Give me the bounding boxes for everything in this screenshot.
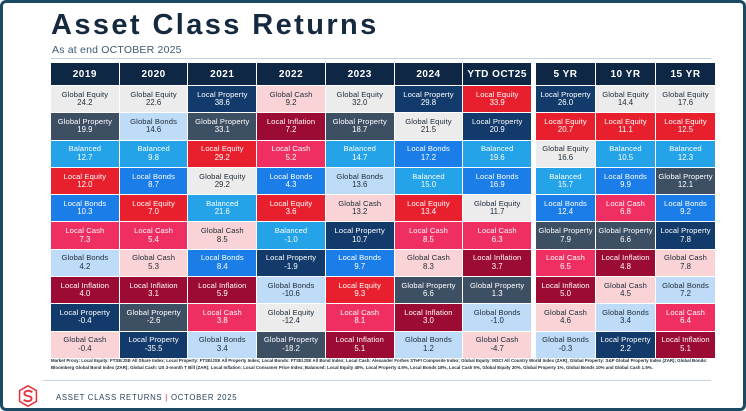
returns-cell: Local Inflation5.0: [536, 277, 595, 303]
asset-class-value: 4.0: [79, 290, 90, 299]
asset-class-value: -0.4: [78, 345, 91, 354]
annualised-panel: 5 YRLocal Property26.0Local Equity20.7Gl…: [536, 63, 715, 358]
returns-cell: Local Property20.9: [463, 113, 531, 139]
asset-class-value: 6.4: [680, 317, 691, 326]
asset-class-value: 15.7: [558, 181, 573, 190]
asset-class-value: -2.6: [147, 317, 160, 326]
asset-class-value: 24.2: [77, 99, 92, 108]
asset-class-value: 3.1: [148, 290, 159, 299]
returns-cell: Global Property6.6: [395, 277, 463, 303]
returns-cell: Balanced15.7: [536, 168, 595, 194]
returns-cell: Global Cash-4.7: [463, 332, 531, 358]
returns-cell: Global Bonds3.4: [596, 304, 655, 330]
asset-class-value: 16.6: [558, 154, 573, 163]
returns-cell: Local Cash3.8: [188, 304, 256, 330]
asset-class-value: 5.4: [148, 236, 159, 245]
asset-class-value: 5.0: [560, 290, 571, 299]
returns-cell: Balanced12.3: [656, 141, 715, 167]
returns-cell: Global Equity22.6: [120, 86, 188, 112]
returns-cell: Local Cash6.4: [656, 304, 715, 330]
asset-class-value: 29.2: [215, 181, 230, 190]
asset-class-value: 6.8: [620, 208, 631, 217]
asset-class-value: 1.2: [423, 345, 434, 354]
asset-class-value: 12.3: [678, 154, 693, 163]
column-header: 10 YR: [596, 63, 655, 85]
returns-cell: Local Equity12.0: [51, 168, 119, 194]
returns-cell: Global Equity17.6: [656, 86, 715, 112]
returns-cell: Global Cash5.3: [120, 250, 188, 276]
returns-column: YTD OCT25Local Equity33.9Local Property2…: [463, 63, 531, 358]
asset-class-value: 6.6: [423, 290, 434, 299]
asset-class-value: 38.6: [215, 99, 230, 108]
returns-cell: Global Bonds1.2: [395, 332, 463, 358]
returns-cell: Local Equity12.5: [656, 113, 715, 139]
returns-cell: Local Property29.8: [395, 86, 463, 112]
returns-cell: Global Property33.1: [188, 113, 256, 139]
returns-cell: Local Bonds17.2: [395, 141, 463, 167]
returns-cell: Local Inflation5.1: [326, 332, 394, 358]
returns-cell: Local Cash5.4: [120, 222, 188, 248]
column-header: YTD OCT25: [463, 63, 531, 85]
returns-cell: Local Inflation5.1: [656, 332, 715, 358]
asset-class-value: 8.5: [423, 236, 434, 245]
asset-class-value: 26.0: [558, 99, 573, 108]
returns-cell: Local Bonds8.7: [120, 168, 188, 194]
asset-class-value: 33.1: [215, 126, 230, 135]
returns-column: 2023Global Equity32.0Global Property18.7…: [326, 63, 394, 358]
asset-class-value: 8.7: [148, 181, 159, 190]
returns-cell: Global Equity14.4: [596, 86, 655, 112]
returns-cell: Global Bonds-1.0: [463, 304, 531, 330]
asset-class-value: 4.5: [620, 290, 631, 299]
returns-cell: Local Bonds16.9: [463, 168, 531, 194]
column-header: 2021: [188, 63, 256, 85]
column-header: 2019: [51, 63, 119, 85]
returns-cell: Local Cash5.2: [257, 141, 325, 167]
returns-cell: Local Property-35.5: [120, 332, 188, 358]
returns-cell: Global Bonds7.2: [656, 277, 715, 303]
returns-cell: Global Equity29.2: [188, 168, 256, 194]
asset-class-value: 4.6: [560, 317, 571, 326]
returns-table: 2019Global Equity24.2Global Property19.9…: [51, 63, 715, 358]
asset-class-value: 15.0: [421, 181, 436, 190]
returns-cell: Local Cash6.3: [463, 222, 531, 248]
returns-cell: Local Property10.7: [326, 222, 394, 248]
returns-cell: Local Bonds9.7: [326, 250, 394, 276]
asset-class-value: 5.1: [680, 345, 691, 354]
asset-class-value: -4.7: [490, 345, 503, 354]
footer-divider: [43, 380, 711, 381]
returns-cell: Global Property12.1: [656, 168, 715, 194]
asset-class-value: 2.2: [620, 345, 631, 354]
asset-class-value: 21.5: [421, 126, 436, 135]
asset-class-value: 8.1: [354, 317, 365, 326]
returns-cell: Global Bonds4.2: [51, 250, 119, 276]
returns-cell: Local Bonds4.3: [257, 168, 325, 194]
returns-cell: Global Cash-0.4: [51, 332, 119, 358]
returns-cell: Balanced10.5: [596, 141, 655, 167]
returns-cell: Global Property-18.2: [257, 332, 325, 358]
returns-cell: Global Property-2.6: [120, 304, 188, 330]
asset-class-value: 29.2: [215, 154, 230, 163]
returns-cell: Global Equity11.7: [463, 195, 531, 221]
asset-class-value: 5.9: [217, 290, 228, 299]
returns-cell: Local Cash6.8: [596, 195, 655, 221]
asset-class-value: 32.0: [352, 99, 367, 108]
returns-cell: Global Equity16.6: [536, 141, 595, 167]
asset-class-value: 8.4: [217, 263, 228, 272]
returns-cell: Local Inflation4.0: [51, 277, 119, 303]
column-header: 5 YR: [536, 63, 595, 85]
returns-cell: Global Property6.6: [596, 222, 655, 248]
returns-cell: Local Equity3.6: [257, 195, 325, 221]
asset-class-value: 14.6: [146, 126, 161, 135]
asset-class-value: 3.6: [286, 208, 297, 217]
asset-class-value: 12.7: [77, 154, 92, 163]
returns-cell: Global Equity24.2: [51, 86, 119, 112]
returns-cell: Global Equity32.0: [326, 86, 394, 112]
returns-column: 10 YRGlobal Equity14.4Local Equity11.1Ba…: [596, 63, 655, 358]
asset-class-value: 9.7: [354, 263, 365, 272]
returns-cell: Global Cash8.5: [188, 222, 256, 248]
footnote-line-1: Market Proxy: Local Equity: FTSE/JSE All…: [51, 358, 661, 363]
asset-class-value: 12.0: [77, 181, 92, 190]
returns-column: 2021Local Property38.6Global Property33.…: [188, 63, 256, 358]
returns-column: 5 YRLocal Property26.0Local Equity20.7Gl…: [536, 63, 595, 358]
brand-logo-icon: [15, 384, 41, 408]
asset-class-value: 22.6: [146, 99, 161, 108]
returns-cell: Local Equity13.4: [395, 195, 463, 221]
column-header: 2023: [326, 63, 394, 85]
returns-cell: Local Bonds12.4: [536, 195, 595, 221]
returns-cell: Global Bonds-0.3: [536, 332, 595, 358]
asset-class-value: 17.2: [421, 154, 436, 163]
asset-class-value: -10.6: [282, 290, 300, 299]
returns-cell: Local Inflation7.2: [257, 113, 325, 139]
returns-cell: Global Cash7.8: [656, 250, 715, 276]
asset-class-value: -35.5: [145, 345, 163, 354]
asset-class-value: 20.7: [558, 126, 573, 135]
asset-class-value: 13.2: [352, 208, 367, 217]
asset-class-value: -18.2: [282, 345, 300, 354]
asset-class-value: 7.8: [680, 263, 691, 272]
asset-class-value: 5.1: [354, 345, 365, 354]
asset-class-value: 4.3: [286, 181, 297, 190]
footer-bar-period: OCTOBER 2025: [171, 393, 237, 402]
returns-cell: Local Cash8.5: [395, 222, 463, 248]
asset-class-value: 12.1: [678, 181, 693, 190]
asset-class-value: 17.6: [678, 99, 693, 108]
asset-class-value: 11.1: [618, 126, 633, 135]
asset-class-value: 8.5: [217, 236, 228, 245]
asset-class-value: 9.9: [620, 181, 631, 190]
returns-cell: Local Equity33.9: [463, 86, 531, 112]
asset-class-returns-page: Asset Class Returns As at end OCTOBER 20…: [0, 0, 746, 411]
returns-cell: Global Property1.3: [463, 277, 531, 303]
returns-cell: Balanced12.7: [51, 141, 119, 167]
returns-cell: Local Property2.2: [596, 332, 655, 358]
asset-class-value: 10.5: [618, 154, 633, 163]
returns-cell: Local Property-0.4: [51, 304, 119, 330]
returns-cell: Balanced-1.0: [257, 222, 325, 248]
header-divider: [51, 58, 711, 59]
asset-class-value: 3.8: [217, 317, 228, 326]
footer-bar-separator: |: [165, 393, 168, 402]
asset-class-value: -0.4: [78, 317, 91, 326]
asset-class-value: 14.7: [352, 154, 367, 163]
asset-class-value: 12.4: [558, 208, 573, 217]
returns-cell: Global Cash4.6: [536, 304, 595, 330]
returns-cell: Local Bonds9.2: [656, 195, 715, 221]
returns-cell: Local Equity9.3: [326, 277, 394, 303]
asset-class-value: 4.8: [620, 263, 631, 272]
page-title: Asset Class Returns: [51, 9, 379, 42]
asset-class-value: 1.3: [492, 290, 503, 299]
asset-class-value: 18.7: [352, 126, 367, 135]
returns-cell: Global Bonds-10.6: [257, 277, 325, 303]
asset-class-value: 9.2: [286, 99, 297, 108]
returns-cell: Local Inflation4.8: [596, 250, 655, 276]
asset-class-value: 3.4: [217, 345, 228, 354]
returns-cell: Balanced21.6: [188, 195, 256, 221]
asset-class-value: 29.8: [421, 99, 436, 108]
returns-cell: Local Property26.0: [536, 86, 595, 112]
asset-class-value: 7.2: [680, 290, 691, 299]
returns-cell: Global Cash9.2: [257, 86, 325, 112]
asset-class-value: 3.4: [620, 317, 631, 326]
asset-class-value: 4.2: [79, 263, 90, 272]
returns-cell: Local Cash7.3: [51, 222, 119, 248]
calendar-year-panel: 2019Global Equity24.2Global Property19.9…: [51, 63, 531, 358]
returns-cell: Local Property-1.9: [257, 250, 325, 276]
column-header: 15 YR: [656, 63, 715, 85]
returns-cell: Local Bonds8.4: [188, 250, 256, 276]
returns-cell: Local Property38.6: [188, 86, 256, 112]
market-proxy-footnote: Market Proxy: Local Equity: FTSE/JSE All…: [51, 357, 713, 372]
asset-class-value: 7.8: [680, 236, 691, 245]
returns-cell: Local Equity11.1: [596, 113, 655, 139]
asset-class-value: 10.3: [77, 208, 92, 217]
returns-cell: Local Bonds9.9: [596, 168, 655, 194]
asset-class-value: -1.9: [284, 263, 297, 272]
footnote-line-3: Cash 1.5%.: [630, 365, 653, 370]
returns-cell: Local Inflation5.9: [188, 277, 256, 303]
returns-cell: Local Inflation3.0: [395, 304, 463, 330]
returns-cell: Global Bonds3.4: [188, 332, 256, 358]
returns-cell: Balanced19.6: [463, 141, 531, 167]
returns-cell: Local Bonds10.3: [51, 195, 119, 221]
asset-class-value: 13.6: [352, 181, 367, 190]
asset-class-value: 33.9: [490, 99, 505, 108]
asset-class-value: -1.0: [490, 317, 503, 326]
returns-cell: Global Property7.9: [536, 222, 595, 248]
asset-class-value: -1.0: [284, 236, 297, 245]
returns-cell: Balanced15.0: [395, 168, 463, 194]
asset-class-value: 6.3: [492, 236, 503, 245]
returns-cell: Global Cash8.3: [395, 250, 463, 276]
asset-class-value: 7.3: [79, 236, 90, 245]
asset-class-value: 5.2: [286, 154, 297, 163]
asset-class-value: 21.6: [215, 208, 230, 217]
asset-class-value: 14.4: [618, 99, 633, 108]
asset-class-value: 9.8: [148, 154, 159, 163]
asset-class-value: 16.9: [490, 181, 505, 190]
asset-class-value: -0.3: [559, 345, 572, 354]
returns-cell: Local Inflation3.7: [463, 250, 531, 276]
returns-column: 15 YRGlobal Equity17.6Local Equity12.5Ba…: [656, 63, 715, 358]
asset-class-value: 5.3: [148, 263, 159, 272]
asset-class-value: 12.5: [678, 126, 693, 135]
returns-cell: Global Property18.7: [326, 113, 394, 139]
column-header: 2022: [257, 63, 325, 85]
returns-column: 2024Local Property29.8Global Equity21.5L…: [395, 63, 463, 358]
asset-class-value: 11.7: [490, 208, 505, 217]
returns-cell: Local Cash6.5: [536, 250, 595, 276]
returns-cell: Local Property7.8: [656, 222, 715, 248]
asset-class-value: 13.4: [421, 208, 436, 217]
column-header: 2024: [395, 63, 463, 85]
returns-cell: Global Bonds13.6: [326, 168, 394, 194]
returns-cell: Global Equity-12.4: [257, 304, 325, 330]
returns-column: 2019Global Equity24.2Global Property19.9…: [51, 63, 119, 358]
returns-cell: Global Cash4.5: [596, 277, 655, 303]
asset-class-value: 9.3: [354, 290, 365, 299]
asset-class-value: 7.2: [286, 126, 297, 135]
asset-class-value: 9.2: [680, 208, 691, 217]
asset-class-value: 19.6: [490, 154, 505, 163]
returns-cell: Local Inflation3.1: [120, 277, 188, 303]
asset-class-value: 6.5: [560, 263, 571, 272]
asset-class-value: 8.3: [423, 263, 434, 272]
asset-class-value: -12.4: [282, 317, 300, 326]
asset-class-value: 7.0: [148, 208, 159, 217]
asset-class-value: 6.6: [620, 236, 631, 245]
returns-cell: Local Equity7.0: [120, 195, 188, 221]
returns-column: 2022Global Cash9.2Local Inflation7.2Loca…: [257, 63, 325, 358]
returns-cell: Local Cash8.1: [326, 304, 394, 330]
asset-class-value: 19.9: [77, 126, 92, 135]
returns-cell: Global Bonds14.6: [120, 113, 188, 139]
asset-class-value: 7.9: [560, 236, 571, 245]
column-header: 2020: [120, 63, 188, 85]
asset-class-value: 3.7: [492, 263, 503, 272]
footer-bar-label: ASSET CLASS RETURNS | OCTOBER 2025: [56, 393, 237, 402]
returns-cell: Balanced9.8: [120, 141, 188, 167]
asset-class-value: 3.0: [423, 317, 434, 326]
returns-cell: Global Equity21.5: [395, 113, 463, 139]
returns-cell: Local Equity29.2: [188, 141, 256, 167]
returns-column: 2020Global Equity22.6Global Bonds14.6Bal…: [120, 63, 188, 358]
returns-cell: Balanced14.7: [326, 141, 394, 167]
returns-cell: Local Equity20.7: [536, 113, 595, 139]
asset-class-value: 20.9: [490, 126, 505, 135]
asset-class-value: 10.7: [352, 236, 367, 245]
page-subtitle: As at end OCTOBER 2025: [52, 44, 182, 56]
footer-bar-title: ASSET CLASS RETURNS: [56, 393, 162, 402]
returns-cell: Global Property19.9: [51, 113, 119, 139]
returns-cell: Global Cash13.2: [326, 195, 394, 221]
